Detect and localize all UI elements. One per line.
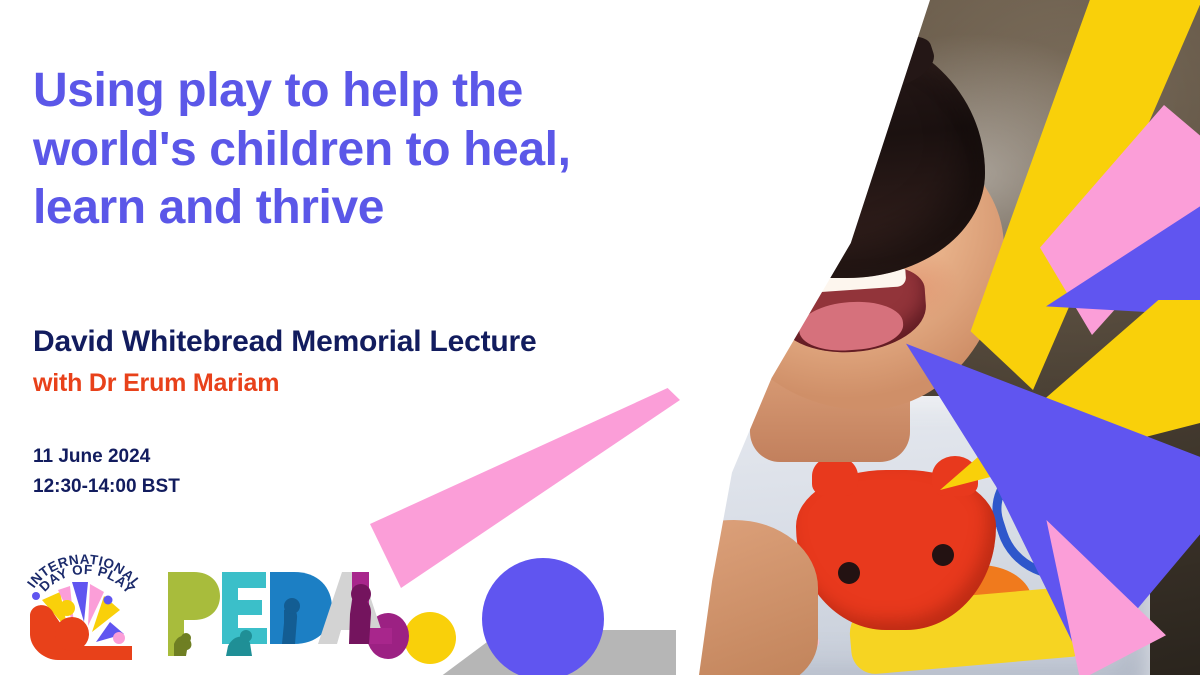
yellow-dot <box>404 612 456 664</box>
event-time: 12:30-14:00 BST <box>33 473 180 502</box>
event-date: 11 June 2024 <box>33 443 150 472</box>
fox-eye-left <box>838 562 860 584</box>
title-line-2: world's children to heal, <box>33 121 633 180</box>
page-title: Using play to help the world's children … <box>33 62 633 238</box>
pedal-wordmark-icon <box>166 566 392 662</box>
poster-canvas: Using play to help the world's children … <box>0 0 1200 675</box>
blue-circle <box>482 558 604 675</box>
title-line-1: Using play to help the <box>33 62 633 121</box>
title-line-3: learn and thrive <box>33 179 633 238</box>
speaker-name: with Dr Erum Mariam <box>33 369 279 398</box>
international-day-of-play-logo: INTERNATIONAL DAY OF PLAY <box>14 538 154 666</box>
fox-eye-right <box>932 544 954 566</box>
lecture-name: David Whitebread Memorial Lecture <box>33 325 537 359</box>
pedal-logo <box>166 566 392 662</box>
day-of-play-arc-text: INTERNATIONAL DAY OF PLAY <box>14 538 154 666</box>
